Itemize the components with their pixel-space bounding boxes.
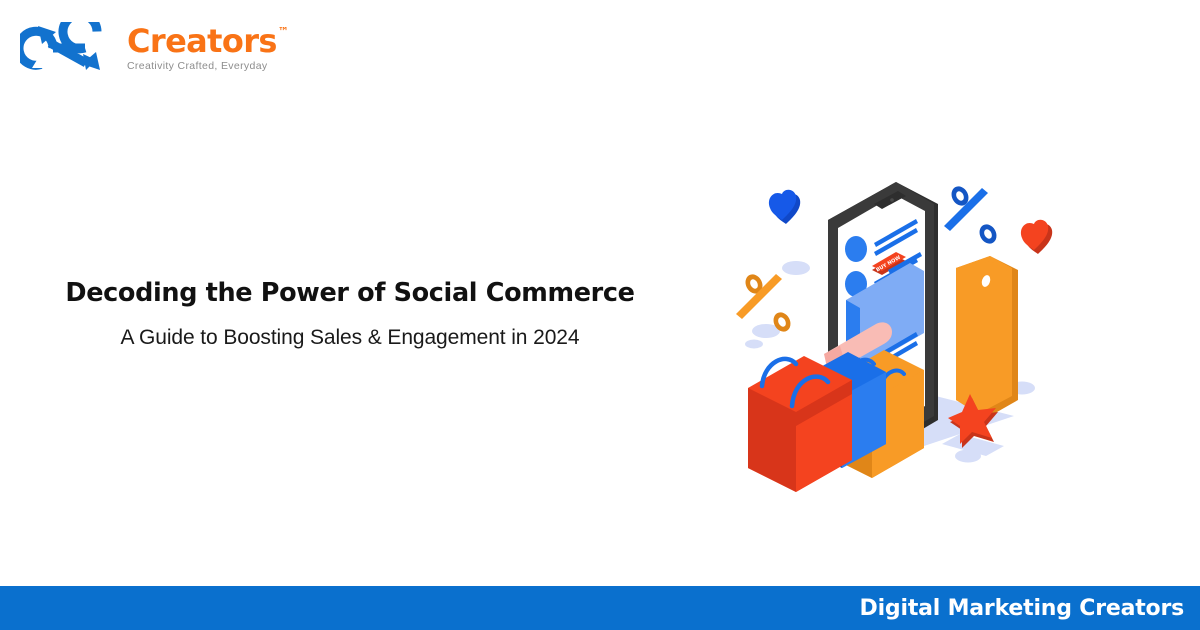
dot-ellipse-icon [955,450,981,463]
social-commerce-banner: Creators ™ Creativity Crafted, Everyday … [0,0,1200,630]
heart-icon [1021,220,1052,254]
price-tag-icon [956,256,1018,416]
brand-name: Creators [127,25,277,57]
shopping-bags-icon [748,350,924,492]
social-commerce-isometric-illustration: BUY NOW BUY NOW [728,148,1068,498]
heart-icon [769,190,800,224]
brand-logo[interactable]: Creators ™ Creativity Crafted, Everyday [20,22,289,74]
page-subtitle: A Guide to Boosting Sales & Engagement i… [121,326,580,350]
page-title: Decoding the Power of Social Commerce [65,278,634,308]
brand-tagline: Creativity Crafted, Everyday [127,60,289,72]
percent-icon [944,183,1000,246]
infinity-arrows-icon [20,22,118,74]
footer-bar: Digital Marketing Creators [0,586,1200,630]
brand-wordmark: Creators ™ Creativity Crafted, Everyday [127,25,289,72]
dot-ellipse-icon [745,340,763,349]
trademark-symbol: ™ [278,26,289,37]
footer-label: Digital Marketing Creators [860,596,1200,621]
avatar [845,236,867,262]
dot-ellipse-icon [782,261,810,275]
hero-text-block: Decoding the Power of Social Commerce A … [0,278,700,350]
